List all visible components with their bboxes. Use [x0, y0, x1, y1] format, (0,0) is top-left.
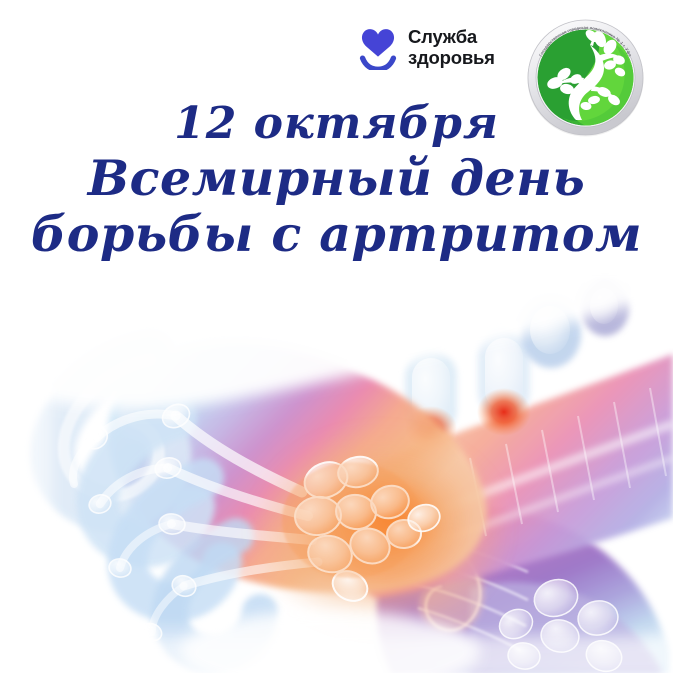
poster-canvas: Служба здоровья — [0, 0, 673, 673]
title-line-date: 12 октября — [0, 98, 673, 150]
brand-line-1: Служба — [408, 27, 495, 48]
hands-illustration-svg — [0, 268, 673, 673]
brand-line-2: здоровья — [408, 48, 495, 69]
heart-smile-icon — [357, 26, 399, 70]
title-line-main-1: Всемирный день — [0, 150, 673, 206]
brand-lockup: Служба здоровья — [357, 26, 495, 70]
page-title: 12 октября Всемирный день борьбы с артри… — [0, 98, 673, 262]
brand-wordmark: Служба здоровья — [408, 27, 495, 68]
arthritic-hands-xray-illustration — [0, 268, 673, 673]
title-line-main-2: борьбы с артритом — [0, 206, 673, 262]
wrist-inflammation-group — [250, 426, 510, 634]
